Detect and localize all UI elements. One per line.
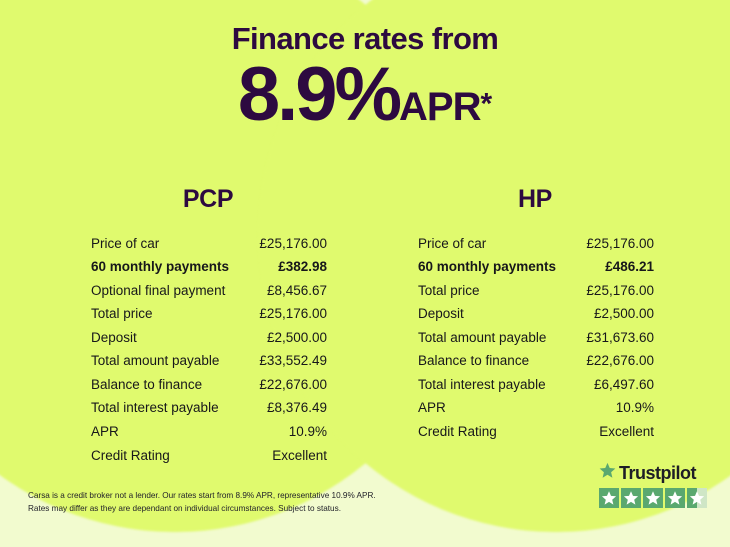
trustpilot-star-rating <box>599 488 711 508</box>
row-value: Excellent <box>272 447 327 465</box>
table-row: Credit Rating Excellent <box>63 444 353 468</box>
row-label: Total amount payable <box>418 329 546 347</box>
row-value: £25,176.00 <box>259 305 327 323</box>
row-label: 60 monthly payments <box>91 258 229 276</box>
row-label: APR <box>91 423 119 441</box>
row-value: £486.21 <box>605 258 654 276</box>
apr-rate-value: 8.9% <box>238 52 399 137</box>
apr-unit-label: APR <box>399 85 480 129</box>
trustpilot-wordmark: Trustpilot <box>619 464 696 482</box>
disclaimer-line-2: Rates may differ as they are dependant o… <box>28 502 458 515</box>
row-value: £6,497.60 <box>594 376 654 394</box>
row-value: £25,176.00 <box>586 282 654 300</box>
table-row: Balance to finance £22,676.00 <box>390 350 680 374</box>
row-value: 10.9% <box>289 423 327 441</box>
table-row: APR 10.9% <box>63 420 353 444</box>
row-label: Balance to finance <box>91 376 202 394</box>
row-label: Optional final payment <box>91 282 225 300</box>
row-value: Excellent <box>599 423 654 441</box>
row-label: 60 monthly payments <box>418 258 556 276</box>
rating-star-icon <box>665 488 685 508</box>
table-row: Total interest payable £8,376.49 <box>63 397 353 421</box>
finance-rows-pcp: Price of car £25,176.00 60 monthly payme… <box>63 232 353 467</box>
rating-star-icon <box>621 488 641 508</box>
table-row: APR 10.9% <box>390 397 680 421</box>
finance-column-pcp: PCP Price of car £25,176.00 60 monthly p… <box>63 185 353 467</box>
row-value: £22,676.00 <box>259 376 327 394</box>
table-row: Total price £25,176.00 <box>63 303 353 327</box>
disclaimer-text: Carsa is a credit broker not a lender. O… <box>28 489 458 516</box>
infographic-content: Finance rates from 8.9%APR* PCP Price of… <box>0 0 730 547</box>
trustpilot-logo: Trustpilot <box>599 462 711 484</box>
rating-star-icon <box>599 488 619 508</box>
finance-rows-hp: Price of car £25,176.00 60 monthly payme… <box>390 232 680 444</box>
table-row: 60 monthly payments £382.98 <box>63 256 353 280</box>
row-label: Total interest payable <box>418 376 546 394</box>
row-value: £33,552.49 <box>259 352 327 370</box>
table-row: Total interest payable £6,497.60 <box>390 373 680 397</box>
row-label: Credit Rating <box>91 447 170 465</box>
table-row: 60 monthly payments £486.21 <box>390 256 680 280</box>
row-value: £8,376.49 <box>267 399 327 417</box>
row-value: 10.9% <box>616 399 654 417</box>
row-label: Price of car <box>91 235 159 253</box>
table-row: Deposit £2,500.00 <box>63 326 353 350</box>
row-label: Credit Rating <box>418 423 497 441</box>
apr-headline: 8.9%APR* <box>0 57 730 133</box>
row-label: Total amount payable <box>91 352 219 370</box>
row-value: £31,673.60 <box>586 329 654 347</box>
rating-star-half-icon <box>687 488 707 508</box>
table-row: Total amount payable £31,673.60 <box>390 326 680 350</box>
row-value: £2,500.00 <box>267 329 327 347</box>
trustpilot-star-icon <box>599 462 616 484</box>
finance-column-hp: HP Price of car £25,176.00 60 monthly pa… <box>390 185 680 444</box>
table-row: Optional final payment £8,456.67 <box>63 279 353 303</box>
row-value: £25,176.00 <box>259 235 327 253</box>
column-title-pcp: PCP <box>63 185 353 214</box>
table-row: Total price £25,176.00 <box>390 279 680 303</box>
rating-star-icon <box>643 488 663 508</box>
row-label: Total price <box>418 282 480 300</box>
row-label: Balance to finance <box>418 352 529 370</box>
table-row: Balance to finance £22,676.00 <box>63 373 353 397</box>
row-label: Total interest payable <box>91 399 219 417</box>
row-value: £2,500.00 <box>594 305 654 323</box>
row-label: Total price <box>91 305 153 323</box>
row-label: Deposit <box>418 305 464 323</box>
disclaimer-line-1: Carsa is a credit broker not a lender. O… <box>28 489 458 502</box>
apr-asterisk: * <box>481 88 493 121</box>
table-row: Total amount payable £33,552.49 <box>63 350 353 374</box>
row-value: £8,456.67 <box>267 282 327 300</box>
table-row: Deposit £2,500.00 <box>390 303 680 327</box>
trustpilot-rating[interactable]: Trustpilot <box>599 462 711 508</box>
row-value: £25,176.00 <box>586 235 654 253</box>
row-value: £22,676.00 <box>586 352 654 370</box>
table-row: Price of car £25,176.00 <box>63 232 353 256</box>
row-label: Deposit <box>91 329 137 347</box>
table-row: Credit Rating Excellent <box>390 420 680 444</box>
row-label: Price of car <box>418 235 486 253</box>
row-value: £382.98 <box>278 258 327 276</box>
row-label: APR <box>418 399 446 417</box>
table-row: Price of car £25,176.00 <box>390 232 680 256</box>
column-title-hp: HP <box>390 185 680 214</box>
